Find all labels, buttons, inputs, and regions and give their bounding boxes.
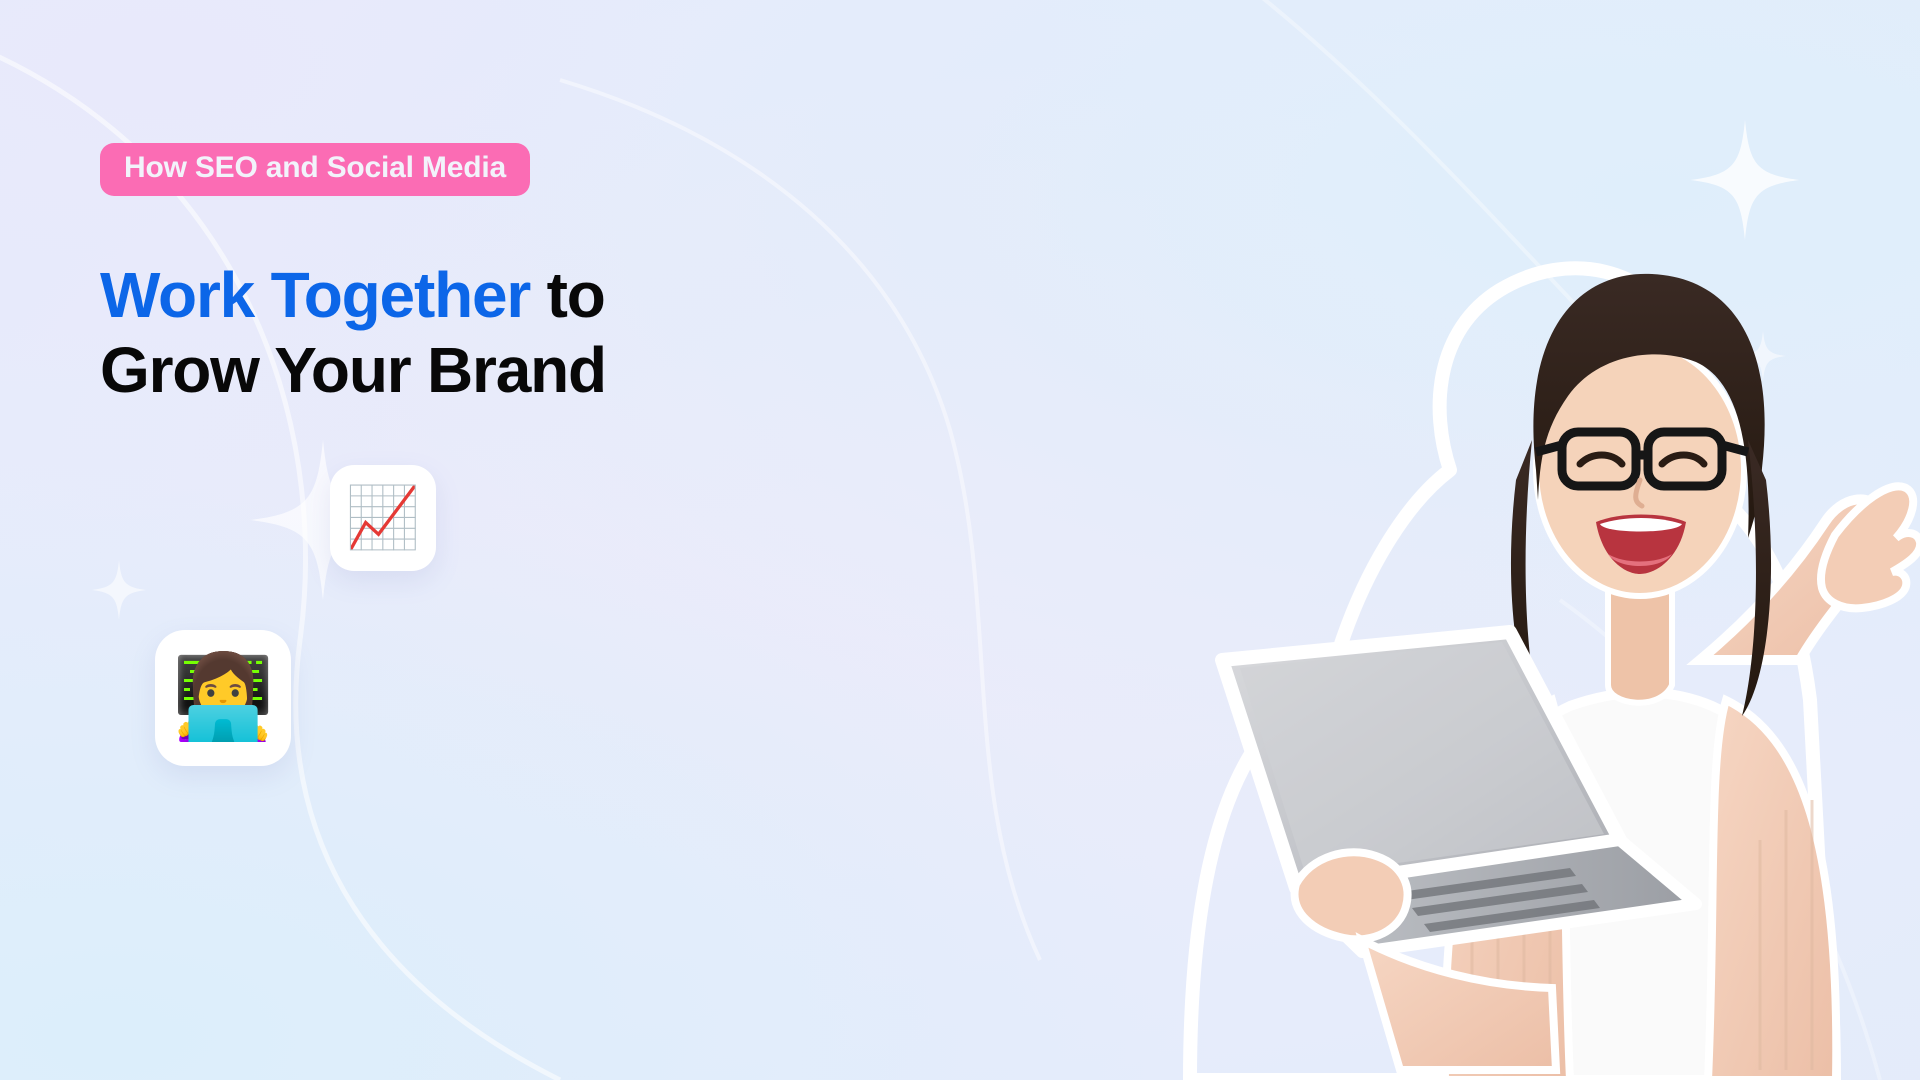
chart-increasing-sticker: 📈: [330, 465, 436, 571]
headline-line-1: Work Together to: [100, 258, 860, 334]
chart-increasing-icon: 📈: [346, 488, 421, 548]
eyebrow-badge-label: How SEO and Social Media: [124, 151, 506, 185]
headline-line-2: Grow Your Brand: [100, 333, 860, 409]
page-title: Work Together to Grow Your Brand: [100, 258, 860, 409]
woman-technologist-sticker: 👩‍💻: [155, 630, 291, 766]
sparkle-icon: [1690, 120, 1800, 240]
banner-text-content: How SEO and Social Media Work Together t…: [0, 0, 900, 1080]
hero-photo: [1100, 140, 1920, 1080]
eyebrow-badge: How SEO and Social Media: [100, 143, 530, 196]
headline-line-1-rest: to: [530, 259, 605, 331]
hero-banner: How SEO and Social Media Work Together t…: [0, 0, 1920, 1080]
sparkle-icon: [1600, 285, 1674, 367]
sparkle-icon: [1740, 330, 1786, 382]
woman-technologist-icon: 👩‍💻: [172, 657, 274, 739]
headline-accent-text: Work Together: [100, 259, 530, 331]
